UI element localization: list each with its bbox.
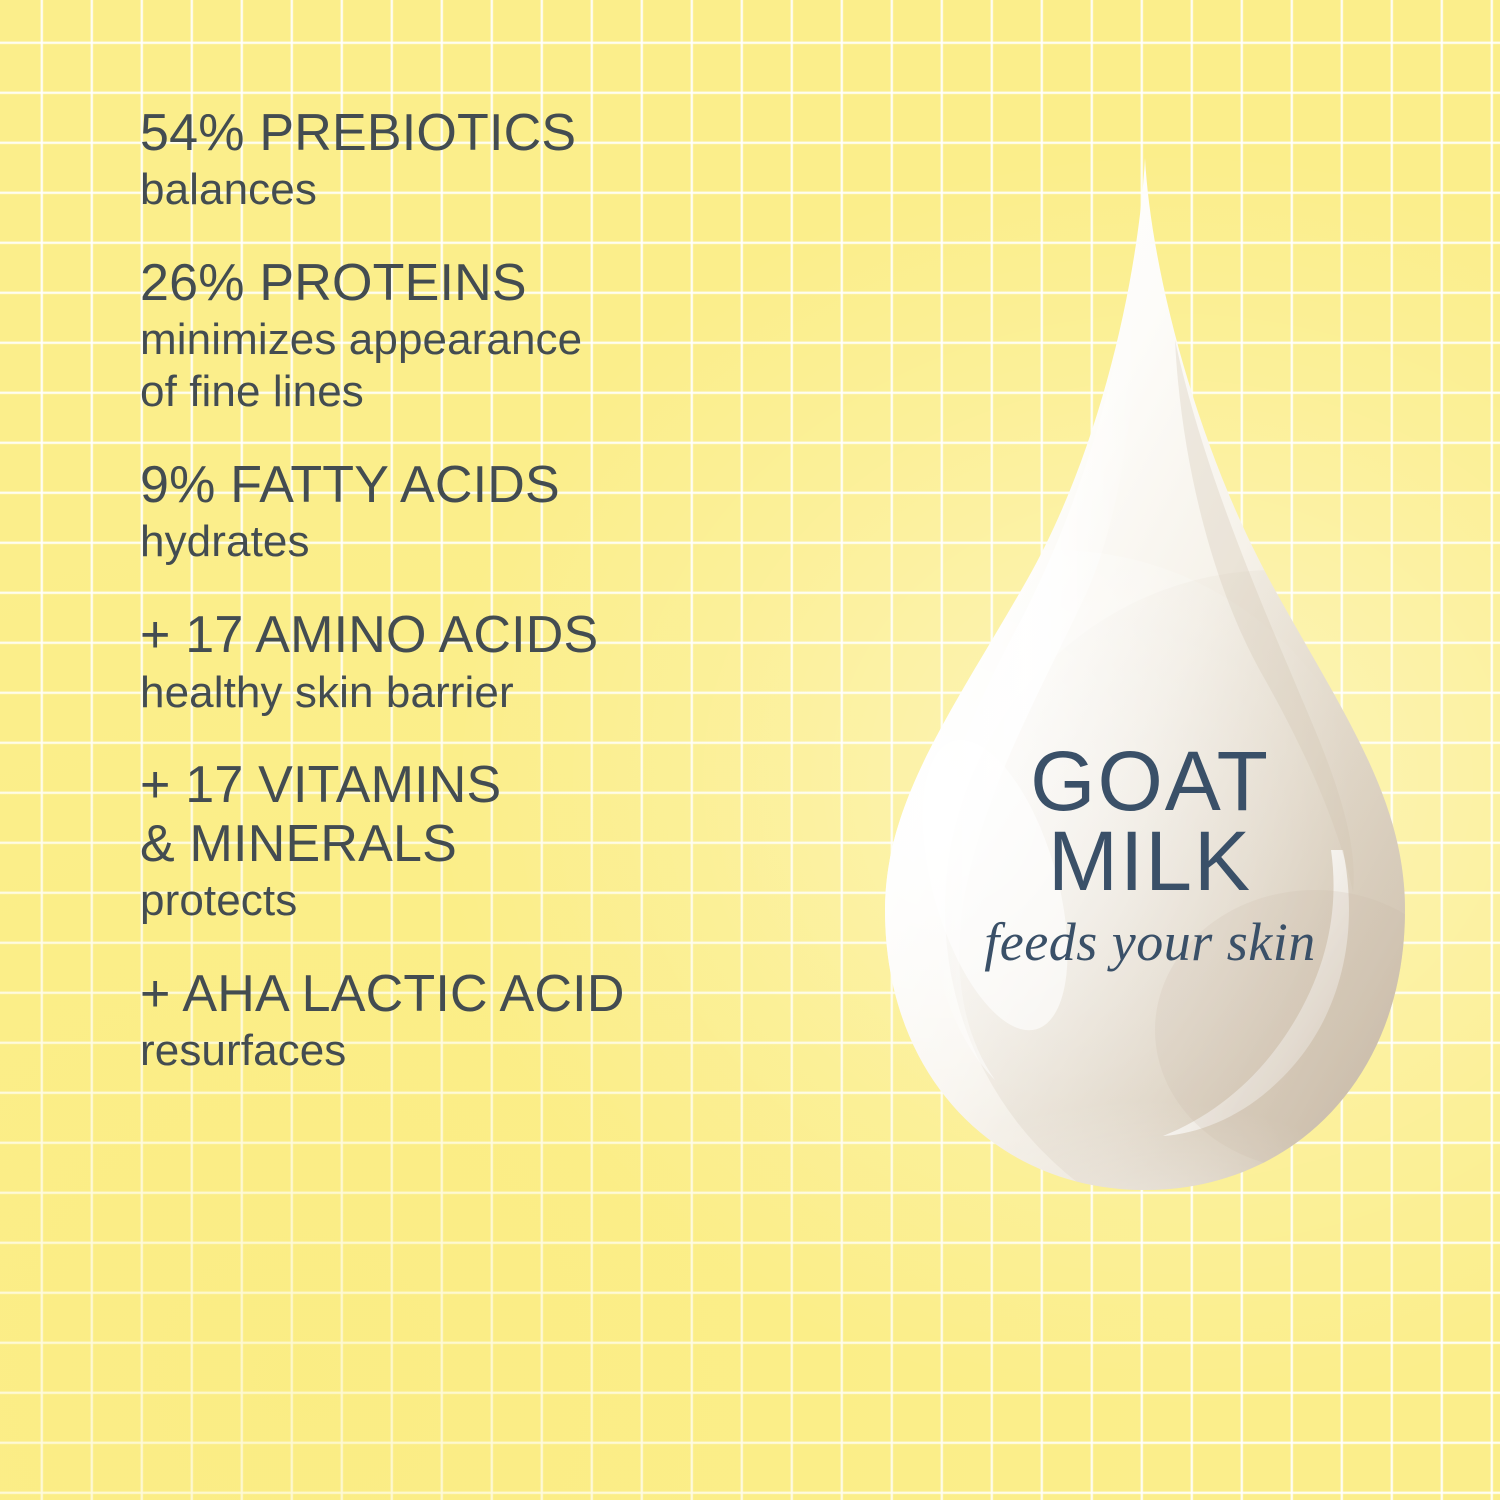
ingredient-headline: + AHA LACTIC ACID xyxy=(140,965,840,1023)
ingredient-item-proteins: 26% PROTEINS minimizes appearance of fin… xyxy=(140,254,840,418)
ingredient-benefit: healthy skin barrier xyxy=(140,667,840,719)
ingredient-headline: + 17 AMINO ACIDS xyxy=(140,606,840,664)
ingredient-item-fatty-acids: 9% FATTY ACIDS hydrates xyxy=(140,456,840,568)
ingredient-benefit: minimizes appearance of fine lines xyxy=(140,314,840,418)
ingredient-headline: + 17 VITAMINS & MINERALS xyxy=(140,756,840,872)
ingredient-item-amino-acids: + 17 AMINO ACIDS healthy skin barrier xyxy=(140,606,840,718)
ingredient-benefit: resurfaces xyxy=(140,1025,840,1077)
ingredient-headline: 26% PROTEINS xyxy=(140,254,840,312)
ingredient-list: 54% PREBIOTICS balances 26% PROTEINS min… xyxy=(140,104,840,1077)
ingredient-item-aha-lactic-acid: + AHA LACTIC ACID resurfaces xyxy=(140,965,840,1077)
ingredient-benefit: balances xyxy=(140,164,840,216)
ingredient-headline: 9% FATTY ACIDS xyxy=(140,456,840,514)
ingredient-benefit: protects xyxy=(140,875,840,927)
ingredient-item-prebiotics: 54% PREBIOTICS balances xyxy=(140,104,840,216)
infographic-canvas: 54% PREBIOTICS balances 26% PROTEINS min… xyxy=(0,0,1500,1500)
milk-droplet-illustration xyxy=(845,150,1455,1210)
milk-droplet-icon xyxy=(845,150,1455,1210)
ingredient-benefit: hydrates xyxy=(140,516,840,568)
ingredient-item-vitamins-minerals: + 17 VITAMINS & MINERALS protects xyxy=(140,756,840,926)
ingredient-headline: 54% PREBIOTICS xyxy=(140,104,840,162)
